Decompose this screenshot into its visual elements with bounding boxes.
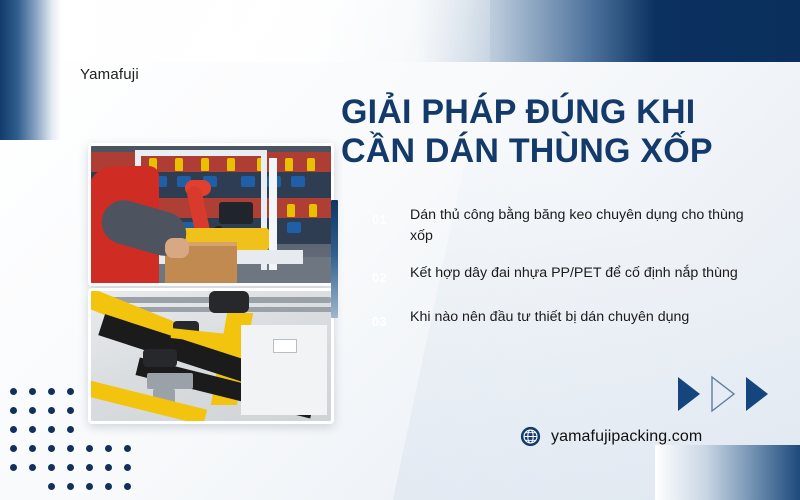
list-item: 03 Khi nào nên đầu tư thiết bị dán chuyê… [363,307,773,335]
dot [48,464,55,471]
dot [48,483,55,490]
title-line-2: CẦN DÁN THÙNG XỐP [341,132,791,171]
globe-icon [520,426,541,447]
website-url: yamafujipacking.com [551,428,702,446]
page-title: GIẢI PHÁP ĐÚNG KHI CẦN DÁN THÙNG XỐP [341,93,791,172]
dot [48,407,55,414]
list-item: 02 Kết hợp dây đai nhựa PP/PET để cố địn… [363,263,773,291]
dot [67,445,74,452]
dot [10,445,17,452]
dot [67,407,74,414]
play-arrow-filled-icon [744,375,770,413]
website-line[interactable]: yamafujipacking.com [520,426,702,447]
list-item-number-badge: 01 [363,207,396,233]
arrow-decoration-group [676,375,772,413]
title-line-1: GIẢI PHÁP ĐÚNG KHI [341,93,791,132]
list-item-number-badge: 03 [363,309,396,335]
bottom-right-gradient-bar [655,445,800,500]
dot [29,464,36,471]
dot [86,483,93,490]
dot [124,464,131,471]
dot [67,388,74,395]
photo-case-sealer-operator [88,143,334,286]
brand-name: Yamafuji [80,66,139,83]
dot [48,445,55,452]
dot [29,426,36,433]
left-gradient-strip [0,0,62,140]
dot [29,407,36,414]
dot [86,445,93,452]
photo-bottom-artwork [91,291,331,421]
dot [105,464,112,471]
list-item-text: Khi nào nên đầu tư thiết bị dán chuyên d… [410,307,689,328]
photo-top-artwork [91,146,331,283]
dot [10,426,17,433]
bullet-list: 01 Dán thủ công bằng băng keo chuyên dụn… [363,205,773,351]
dot [124,445,131,452]
dot [48,388,55,395]
dot [67,464,74,471]
photo-conveyor-closeup [88,288,334,424]
top-bar-sheen [70,0,490,62]
list-item-text: Kết hợp dây đai nhựa PP/PET để cố định n… [410,263,738,284]
list-item-number-badge: 02 [363,265,396,291]
slide-canvas: Yamafuji [0,0,800,500]
dot [67,483,74,490]
dot [29,388,36,395]
dot [105,445,112,452]
dot [67,426,74,433]
dot [10,388,17,395]
dot [124,483,131,490]
top-gradient-bar [0,0,800,62]
dot [48,426,55,433]
play-arrow-filled-icon [676,375,702,413]
dot [10,407,17,414]
vertical-accent-bar [331,200,338,318]
dot [86,464,93,471]
dot [29,445,36,452]
dot [10,464,17,471]
list-item: 01 Dán thủ công bằng băng keo chuyên dụn… [363,205,773,247]
list-item-text: Dán thủ công bằng băng keo chuyên dụng c… [410,205,762,247]
play-arrow-outline-icon [710,375,736,413]
dot [105,483,112,490]
